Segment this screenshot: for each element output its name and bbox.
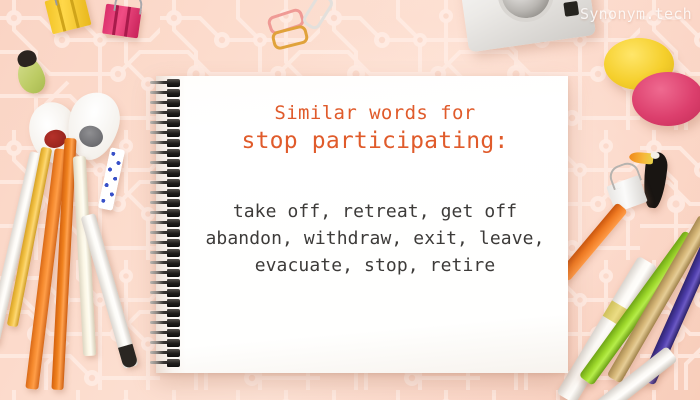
page-inner-shadow: [156, 76, 186, 373]
paper-clip-white-icon: [300, 0, 335, 32]
paper-clip-pink-icon: [266, 7, 306, 36]
desk-scene: Similar words for stop participating: ta…: [0, 0, 700, 400]
synonym-line-1: take off, retreat, get off: [196, 198, 554, 225]
pencil-orange-a-icon: [25, 148, 67, 390]
binder-clip-pink-icon: [102, 4, 142, 39]
pen-cream-icon: [73, 156, 96, 356]
pencil-yellow-icon: [7, 147, 53, 328]
binder-clip-yellow-icon: [44, 0, 91, 34]
marker-white-icon: [556, 256, 657, 400]
synonym-list: take off, retreat, get off abandon, with…: [196, 198, 554, 280]
notebook-page: Similar words for stop participating: ta…: [156, 76, 568, 373]
synonym-line-2: abandon, withdraw, exit, leave,: [196, 225, 554, 252]
synonym-line-3: evacuate, stop, retire: [196, 252, 554, 279]
pencil-orange-b-icon: [51, 138, 76, 390]
pen-polka-dot-icon: [98, 147, 126, 211]
pen-white-marker-icon: [81, 213, 139, 369]
marker-tan-icon: [607, 214, 700, 383]
site-watermark: Synonym.tech: [580, 5, 692, 23]
toucan-figurine-icon: [641, 151, 669, 209]
oval-eraser-gray-icon: [60, 86, 127, 165]
marker-purple-icon: [641, 219, 700, 386]
page-title-line-2: stop participating:: [196, 128, 554, 155]
camera-icon: [456, 0, 596, 52]
marker-green-icon: [579, 230, 699, 386]
paper-clip-gold-icon: [270, 24, 310, 51]
binder-clip-white-icon: [606, 175, 648, 213]
page-content: Similar words for stop participating: ta…: [190, 76, 560, 373]
macaron-yellow-icon: [604, 38, 674, 90]
macaron-pink-icon: [632, 72, 700, 126]
marker-white-2-icon: [572, 346, 678, 400]
bird-eraser-green-icon: [13, 55, 49, 97]
marker-orange-icon: [558, 202, 628, 281]
oval-eraser-red-icon: [24, 98, 84, 169]
page-title-line-1: Similar words for: [196, 102, 554, 124]
pen-white-left-icon: [0, 151, 43, 345]
